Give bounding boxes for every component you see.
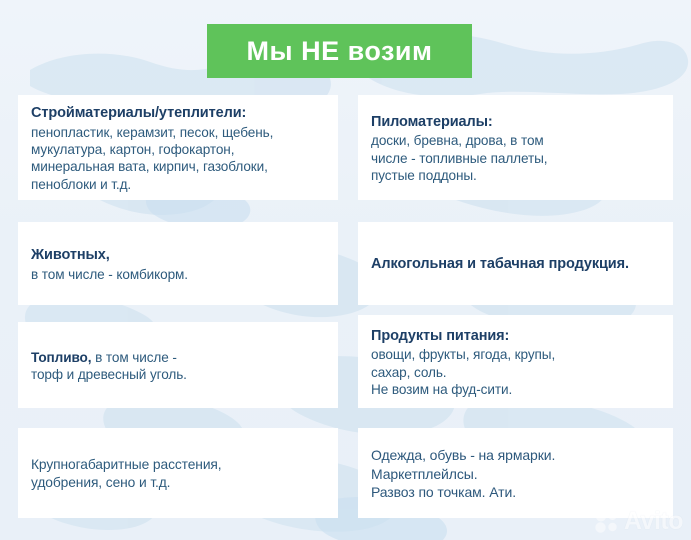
card-body: пенопластик, керамзит, песок, щебень, му… bbox=[31, 124, 326, 193]
card-line-rest: в том числе - bbox=[91, 350, 176, 365]
card-line: мукулатура, картон, гофокартон, bbox=[31, 141, 326, 158]
card-clothing-marketplaces: Одежда, обувь - на ярмарки. Маркетплейлс… bbox=[358, 428, 673, 518]
card-line: Не возим на фуд-сити. bbox=[371, 381, 661, 398]
card-alcohol-tobacco: Алкогольная и табачная продукция. bbox=[358, 222, 673, 305]
card-line: Развоз по точкам. Ати. bbox=[371, 483, 661, 502]
card-oversized-plants: Крупногабаритные расстения, удобрения, с… bbox=[18, 428, 338, 518]
card-food-products: Продукты питания: овощи, фрукты, ягода, … bbox=[358, 315, 673, 408]
card-lumber: Пиломатериалы: доски, бревна, дрова, в т… bbox=[358, 95, 673, 200]
card-animals: Животных, в том числе - комбикорм. bbox=[18, 222, 338, 305]
card-line: овощи, фрукты, ягода, крупы, bbox=[371, 346, 661, 363]
card-body: Крупногабаритные расстения, удобрения, с… bbox=[31, 456, 326, 492]
card-lead-bold: Топливо, bbox=[31, 350, 91, 365]
card-construction-materials: Стройматериалы/утеплители: пенопластик, … bbox=[18, 95, 338, 200]
card-line: Крупногабаритные расстения, bbox=[31, 456, 326, 474]
card-line: доски, бревна, дрова, в том bbox=[371, 132, 661, 149]
card-body: Топливо, в том числе - торф и древесный … bbox=[31, 349, 326, 384]
card-line: пеноблоки и т.д. bbox=[31, 176, 326, 193]
card-line: Топливо, в том числе - bbox=[31, 349, 326, 366]
card-title: Алкогольная и табачная продукция. bbox=[371, 255, 661, 274]
card-title-line: Алкогольная и табачная bbox=[371, 256, 545, 272]
card-body: Одежда, обувь - на ярмарки. Маркетплейлс… bbox=[371, 446, 661, 502]
card-line: Одежда, обувь - на ярмарки. bbox=[371, 446, 661, 465]
card-title: Пиломатериалы: bbox=[371, 113, 661, 132]
card-line: пенопластик, керамзит, песок, щебень, bbox=[31, 124, 326, 141]
card-title-line: продукция. bbox=[549, 256, 629, 272]
card-body: овощи, фрукты, ягода, крупы, сахар, соль… bbox=[371, 346, 661, 398]
card-line: торф и древесный уголь. bbox=[31, 366, 326, 383]
card-line: числе - топливные паллеты, bbox=[371, 150, 661, 167]
card-line: в том числе - комбикорм. bbox=[31, 266, 326, 283]
restrictions-card-grid: Стройматериалы/утеплители: пенопластик, … bbox=[0, 0, 691, 540]
card-line: минеральная вата, кирпич, газоблоки, bbox=[31, 158, 326, 175]
infographic-page: Мы НЕ возим Стройматериалы/утеплители: п… bbox=[0, 0, 691, 540]
card-title: Животных, bbox=[31, 246, 326, 265]
card-line: Маркетплейлсы. bbox=[371, 465, 661, 484]
card-title: Продукты питания: bbox=[371, 327, 661, 346]
card-body: в том числе - комбикорм. bbox=[31, 266, 326, 283]
card-fuel: Топливо, в том числе - торф и древесный … bbox=[18, 322, 338, 408]
card-line: пустые поддоны. bbox=[371, 167, 661, 184]
card-body: доски, бревна, дрова, в том числе - топл… bbox=[371, 132, 661, 184]
card-title: Стройматериалы/утеплители: bbox=[31, 104, 326, 123]
card-line: сахар, соль. bbox=[371, 364, 661, 381]
card-line: удобрения, сено и т.д. bbox=[31, 474, 326, 492]
